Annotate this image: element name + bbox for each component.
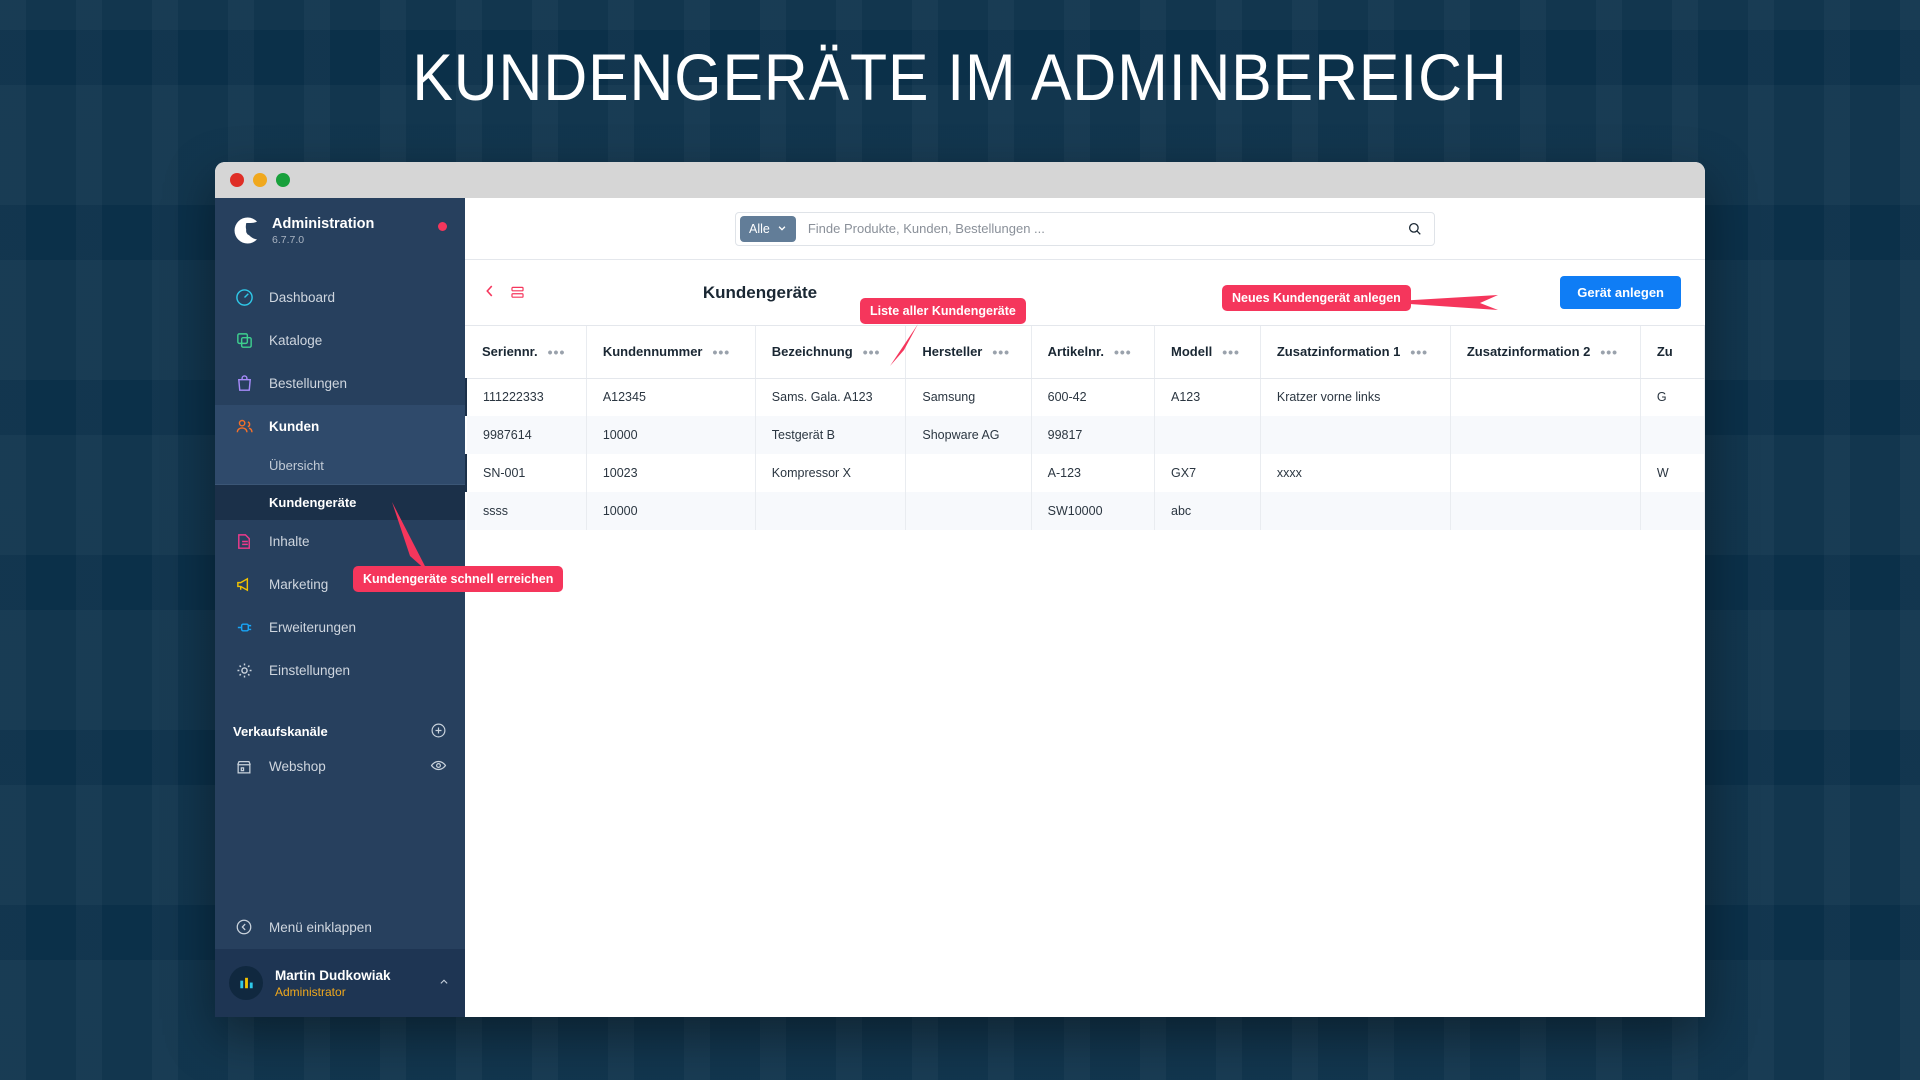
table-cell: abc (1155, 492, 1261, 530)
notification-dot[interactable] (438, 222, 447, 231)
orders-bag-icon (233, 372, 255, 394)
table-cell: A123 (1155, 378, 1261, 416)
brand-version: 6.7.7.0 (272, 234, 374, 246)
column-menu-icon[interactable]: ••• (1114, 344, 1132, 360)
collapse-left-icon (233, 918, 255, 936)
collapse-menu-button[interactable]: Menü einklappen (215, 905, 465, 949)
sidebar: Administration 6.7.7.0 Dashboard (215, 198, 465, 1017)
sidebar-item-label: Kunden (269, 419, 319, 434)
maximize-window-button[interactable] (276, 173, 290, 187)
column-header[interactable]: Zu (1640, 326, 1704, 378)
table-cell (1450, 378, 1640, 416)
chevron-down-icon (777, 222, 787, 236)
sidebar-item-label: Dashboard (269, 290, 335, 305)
table-cell (1260, 416, 1450, 454)
column-header[interactable]: Kundennummer••• (586, 326, 755, 378)
sidebar-item-label: Bestellungen (269, 376, 347, 391)
column-menu-icon[interactable]: ••• (548, 344, 566, 360)
table-cell (906, 454, 1031, 492)
banner-title: KUNDENGERÄTE IM ADMINBEREICH (77, 42, 1843, 112)
table-cell (1450, 416, 1640, 454)
sidebar-item-webshop[interactable]: Webshop (215, 746, 465, 788)
user-profile[interactable]: Martin Dudkowiak Administrator (215, 949, 465, 1017)
table-row[interactable]: SN-00110023Kompressor XA-123GX7xxxxW (466, 454, 1705, 492)
sidebar-item-label: Einstellungen (269, 663, 350, 678)
table-cell: SN-001 (466, 454, 586, 492)
table-cell (1640, 416, 1704, 454)
table-cell: 99817 (1031, 416, 1154, 454)
table-cell: Sams. Gala. A123 (755, 378, 906, 416)
column-menu-icon[interactable]: ••• (1600, 344, 1618, 360)
top-bar: Alle Finde Produkte, Kunden, Bestellunge… (465, 198, 1705, 260)
list-view-icon[interactable] (509, 284, 526, 301)
chevron-up-icon[interactable] (437, 975, 451, 992)
column-header-label: Modell (1171, 344, 1212, 359)
column-header-label: Zusatzinformation 2 (1467, 344, 1591, 359)
sidebar-item-erweiterungen[interactable]: Erweiterungen (215, 606, 465, 649)
table-cell: A-123 (1031, 454, 1154, 492)
column-header-label: Zu (1657, 344, 1673, 359)
sidebar-item-bestellungen[interactable]: Bestellungen (215, 362, 465, 405)
table-cell (1450, 492, 1640, 530)
sidebar-item-label: Marketing (269, 577, 328, 592)
sidebar-item-dashboard[interactable]: Dashboard (215, 276, 465, 319)
table-cell: 111222333 (466, 378, 586, 416)
search-icon[interactable] (1402, 221, 1428, 237)
table-cell: W (1640, 454, 1704, 492)
content-icon (233, 530, 255, 552)
table-cell (1450, 454, 1640, 492)
customers-icon (233, 415, 255, 437)
annotation-nav: Kundengeräte schnell erreichen (353, 566, 563, 592)
table-cell: SW10000 (1031, 492, 1154, 530)
table-cell (1260, 492, 1450, 530)
sidebar-item-einstellungen[interactable]: Einstellungen (215, 649, 465, 692)
sidebar-item-kataloge[interactable]: Kataloge (215, 319, 465, 362)
annotation-arrow-list (880, 320, 940, 380)
sidebar-item-label: Erweiterungen (269, 620, 356, 635)
global-search-bar[interactable]: Alle Finde Produkte, Kunden, Bestellunge… (735, 212, 1435, 246)
table-row[interactable]: ssss10000SW10000abc (466, 492, 1705, 530)
table-cell: 600-42 (1031, 378, 1154, 416)
table-row[interactable]: 111222333A12345Sams. Gala. A123Samsung60… (466, 378, 1705, 416)
catalog-icon (233, 329, 255, 351)
table-cell (1155, 416, 1261, 454)
sidebar-nav: Dashboard Kataloge (215, 276, 465, 692)
megaphone-icon (233, 573, 255, 595)
search-input[interactable]: Finde Produkte, Kunden, Bestellungen ... (808, 221, 1402, 236)
page-header: Kundengeräte Gerät anlegen (465, 260, 1705, 326)
plugin-icon (233, 616, 255, 638)
user-name: Martin Dudkowiak (275, 968, 391, 983)
annotation-create: Neues Kundengerät anlegen (1222, 285, 1411, 311)
column-header-label: Zusatzinformation 1 (1277, 344, 1401, 359)
table-cell (755, 492, 906, 530)
eye-icon[interactable] (430, 757, 447, 777)
search-scope-label: Alle (749, 222, 770, 236)
column-menu-icon[interactable]: ••• (712, 344, 730, 360)
devices-table: Seriennr.•••Kundennummer•••Bezeichnung••… (465, 326, 1705, 530)
gear-icon (233, 659, 255, 681)
sidebar-section-verkaufskanaele: Verkaufskanäle (215, 718, 465, 746)
column-header-label: Bezeichnung (772, 344, 853, 359)
table-cell: Testgerät B (755, 416, 906, 454)
create-device-button[interactable]: Gerät anlegen (1560, 276, 1681, 309)
search-scope-dropdown[interactable]: Alle (740, 216, 796, 242)
dashboard-icon (233, 286, 255, 308)
devices-table-wrapper[interactable]: Seriennr.•••Kundennummer•••Bezeichnung••… (465, 326, 1705, 1017)
column-menu-icon[interactable]: ••• (1410, 344, 1428, 360)
column-header[interactable]: Zusatzinformation 2••• (1450, 326, 1640, 378)
column-header[interactable]: Zusatzinformation 1••• (1260, 326, 1450, 378)
sidebar-brand[interactable]: Administration 6.7.7.0 (215, 198, 465, 260)
table-cell: Kratzer vorne links (1260, 378, 1450, 416)
plus-circle-icon[interactable] (430, 722, 447, 742)
table-cell (1640, 492, 1704, 530)
column-menu-icon[interactable]: ••• (863, 344, 881, 360)
column-header-label: Kundennummer (603, 344, 703, 359)
column-header[interactable]: Artikelnr.••• (1031, 326, 1154, 378)
sidebar-item-uebersicht[interactable]: Übersicht (215, 448, 465, 484)
close-window-button[interactable] (230, 173, 244, 187)
sidebar-item-kunden[interactable]: Kunden (215, 405, 465, 448)
storefront-icon (233, 758, 255, 776)
table-cell: xxxx (1260, 454, 1450, 492)
user-role: Administrator (275, 985, 391, 999)
main-content: Alle Finde Produkte, Kunden, Bestellunge… (465, 198, 1705, 1017)
table-cell: 10000 (586, 416, 755, 454)
minimize-window-button[interactable] (253, 173, 267, 187)
window-titlebar (215, 162, 1705, 198)
column-header[interactable]: Seriennr.••• (466, 326, 586, 378)
table-cell: Kompressor X (755, 454, 906, 492)
table-cell: A12345 (586, 378, 755, 416)
table-cell: Samsung (906, 378, 1031, 416)
table-cell: Shopware AG (906, 416, 1031, 454)
sidebar-subitem-label: Übersicht (269, 458, 324, 473)
brand-name: Administration (272, 216, 374, 233)
table-row[interactable]: 998761410000Testgerät BShopware AG99817 (466, 416, 1705, 454)
table-body: 111222333A12345Sams. Gala. A123Samsung60… (466, 378, 1705, 530)
channel-label: Webshop (269, 759, 326, 774)
table-cell (906, 492, 1031, 530)
annotation-list: Liste aller Kundengeräte (860, 298, 1026, 324)
column-menu-icon[interactable]: ••• (992, 344, 1010, 360)
table-cell: 10023 (586, 454, 755, 492)
table-cell: 10000 (586, 492, 755, 530)
table-cell: GX7 (1155, 454, 1261, 492)
collapse-label: Menü einklappen (269, 920, 372, 935)
column-menu-icon[interactable]: ••• (1222, 344, 1240, 360)
section-title: Verkaufskanäle (233, 724, 328, 739)
table-header-row: Seriennr.•••Kundennummer•••Bezeichnung••… (466, 326, 1705, 378)
sidebar-item-label: Inhalte (269, 534, 310, 549)
chevron-left-icon[interactable] (483, 282, 496, 304)
column-header[interactable]: Modell••• (1155, 326, 1261, 378)
sidebar-subitem-label: Kundengeräte (269, 495, 356, 510)
table-cell: G (1640, 378, 1704, 416)
sidebar-item-label: Kataloge (269, 333, 322, 348)
avatar (229, 966, 263, 1000)
column-header-label: Artikelnr. (1048, 344, 1104, 359)
table-cell: 9987614 (466, 416, 586, 454)
table-cell: ssss (466, 492, 586, 530)
column-header-label: Seriennr. (482, 344, 538, 359)
shopware-logo-icon (233, 217, 260, 244)
